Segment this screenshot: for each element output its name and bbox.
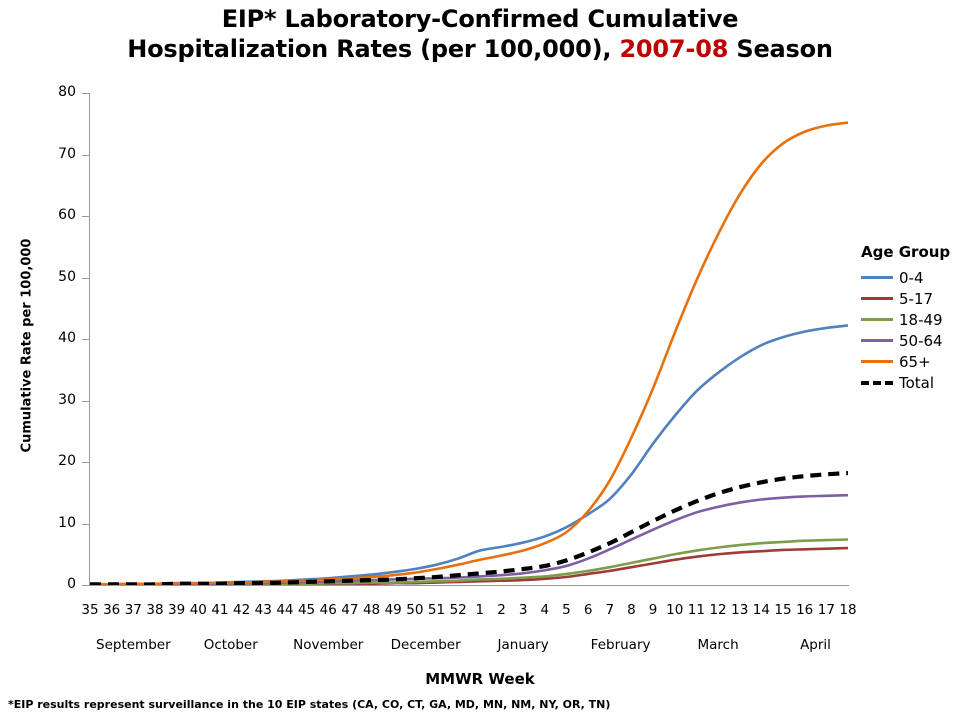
legend-swatch-icon — [861, 276, 893, 279]
y-axis-tick-label: 40 — [16, 331, 76, 345]
legend-swatch-icon — [861, 318, 893, 321]
chart-root: EIP* Laboratory-Confirmed Cumulative Hos… — [0, 0, 960, 720]
legend-items: 0-45-1718-4950-6465+Total — [861, 267, 960, 393]
chart-title-line2: Hospitalization Rates (per 100,000), 200… — [0, 34, 960, 64]
y-axis-tick-label: 20 — [16, 454, 76, 468]
y-axis-tick — [82, 155, 90, 156]
series-lines — [90, 93, 848, 585]
legend-item-5-17[interactable]: 5-17 — [861, 288, 960, 309]
legend-item-label: Total — [899, 374, 934, 392]
x-axis-tick-label: 18 — [828, 603, 868, 618]
legend-item-label: 5-17 — [899, 290, 933, 308]
y-axis-tick-label: 50 — [16, 270, 76, 284]
y-axis-tick — [82, 93, 90, 94]
y-axis-tick — [82, 524, 90, 525]
chart-title-line1: EIP* Laboratory-Confirmed Cumulative — [222, 5, 739, 33]
legend-item-label: 18-49 — [899, 311, 943, 329]
series-line-65 — [90, 123, 848, 585]
legend-item-label: 0-4 — [899, 269, 924, 287]
legend-item-65[interactable]: 65+ — [861, 351, 960, 372]
y-axis-tick — [82, 462, 90, 463]
y-axis-tick-label: 30 — [16, 393, 76, 407]
y-axis-tick — [82, 339, 90, 340]
y-axis-tick-label: 80 — [16, 85, 76, 99]
legend-swatch-icon — [861, 381, 893, 385]
chart-title: EIP* Laboratory-Confirmed Cumulative Hos… — [0, 4, 960, 64]
y-axis-tick — [82, 585, 90, 586]
y-axis-tick-label: 60 — [16, 208, 76, 222]
series-line-total — [90, 473, 848, 584]
series-line-50-64 — [90, 495, 848, 585]
legend-item-label: 50-64 — [899, 332, 943, 350]
chart-title-line2-pre: Hospitalization Rates (per 100,000), — [127, 35, 619, 63]
y-axis-title: Cumulative Rate per 100,000 — [20, 206, 35, 486]
legend-title: Age Group — [861, 243, 960, 261]
x-axis-title: MMWR Week — [0, 670, 960, 688]
plot-area — [90, 93, 848, 585]
legend-swatch-icon — [861, 339, 893, 342]
y-axis-tick-label: 10 — [16, 516, 76, 530]
legend-swatch-icon — [861, 360, 893, 363]
month-label: April — [746, 638, 886, 653]
legend-item-18-49[interactable]: 18-49 — [861, 309, 960, 330]
chart-title-line2-post: Season — [728, 35, 833, 63]
y-axis-tick — [82, 278, 90, 279]
chart-title-season-years: 2007-08 — [619, 35, 728, 63]
legend-item-label: 65+ — [899, 353, 931, 371]
y-axis-tick — [82, 401, 90, 402]
x-axis-line — [89, 585, 849, 586]
y-axis-tick-label: 70 — [16, 147, 76, 161]
footnote: *EIP results represent surveillance in t… — [8, 698, 610, 711]
legend-item-total[interactable]: Total — [861, 372, 960, 393]
y-axis-tick — [82, 216, 90, 217]
legend-swatch-icon — [861, 297, 893, 300]
y-axis-tick-label: 0 — [16, 577, 76, 591]
legend-item-0-4[interactable]: 0-4 — [861, 267, 960, 288]
legend-item-50-64[interactable]: 50-64 — [861, 330, 960, 351]
legend: Age Group 0-45-1718-4950-6465+Total — [861, 243, 960, 393]
